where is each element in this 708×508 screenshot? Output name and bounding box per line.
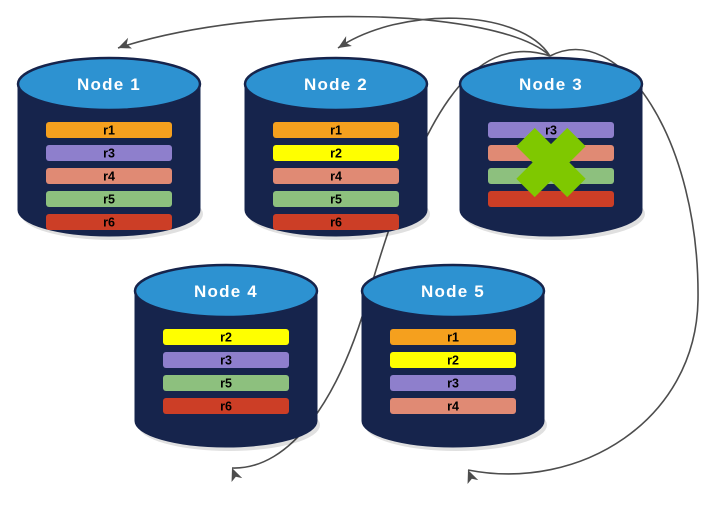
edge-node3-to-node1-line [118,17,550,56]
node-5-title: Node 5 [421,282,485,301]
node-4-record-4-label: r6 [220,400,232,414]
node-2[interactable]: Node 2r1r2r4r5r6 [245,58,430,240]
node-2-record-3[interactable]: r4 [273,168,399,184]
node-5[interactable]: Node 5r1r2r3r4 [362,265,547,451]
node-3-record-1[interactable]: r3 [488,122,614,138]
node-3[interactable]: Node 3r3 [460,58,645,240]
node-2-record-2[interactable]: r2 [273,145,399,161]
node-5-record-3[interactable]: r3 [390,375,516,391]
node-3-record-1-label: r3 [545,124,557,138]
node-2-record-5-label: r6 [330,216,342,230]
node-4-record-3-label: r5 [220,377,232,391]
edge-node3-to-node1-arrowhead [116,38,132,53]
node-5-record-2-label: r2 [447,354,459,368]
node-4[interactable]: Node 4r2r3r5r6 [135,265,320,451]
node-4-record-1[interactable]: r2 [163,329,289,345]
node-2-record-1[interactable]: r1 [273,122,399,138]
node-2-record-3-label: r4 [330,170,342,184]
node-2-record-2-label: r2 [330,147,342,161]
diagram-canvas: Node 1r1r3r4r5r6Node 2r1r2r4r5r6Node 3r3… [0,0,708,508]
node-2-record-4[interactable]: r5 [273,191,399,207]
node-4-record-1-label: r2 [220,331,232,345]
node-5-record-1[interactable]: r1 [390,329,516,345]
node-3-record-4-bar [488,191,614,207]
node-2-record-4-label: r5 [330,193,342,207]
node-4-title: Node 4 [194,282,258,301]
node-4-record-2-label: r3 [220,354,232,368]
node-1[interactable]: Node 1r1r3r4r5r6 [18,58,203,240]
node-4-record-4[interactable]: r6 [163,398,289,414]
node-1-record-3[interactable]: r4 [46,168,172,184]
node-1-record-4-label: r5 [103,193,115,207]
node-2-record-1-label: r1 [330,124,342,138]
node-4-record-2[interactable]: r3 [163,352,289,368]
node-1-record-2[interactable]: r3 [46,145,172,161]
node-4-record-3[interactable]: r5 [163,375,289,391]
edge-node3-to-node2 [335,18,550,56]
node-1-record-4[interactable]: r5 [46,191,172,207]
node-5-record-3-label: r3 [447,377,459,391]
node-replica-diagram: Node 1r1r3r4r5r6Node 2r1r2r4r5r6Node 3r3… [0,0,708,508]
node-1-record-2-label: r3 [103,147,115,161]
node-1-record-5[interactable]: r6 [46,214,172,230]
node-5-record-1-label: r1 [447,331,459,345]
node-1-title: Node 1 [77,75,141,94]
node-2-record-5[interactable]: r6 [273,214,399,230]
node-2-title: Node 2 [304,75,368,94]
node-3-record-4[interactable] [488,191,614,207]
edge-node3-to-node2-arrowhead [335,36,352,52]
node-1-record-1[interactable]: r1 [46,122,172,138]
node-1-record-3-label: r4 [103,170,115,184]
node-5-record-4-label: r4 [447,400,459,414]
node-1-record-1-label: r1 [103,124,115,138]
node-5-record-4[interactable]: r4 [390,398,516,414]
edge-node3-to-node1 [116,17,550,56]
node-3-title: Node 3 [519,75,583,94]
edge-node3-to-node2-line [338,18,550,56]
node-5-record-2[interactable]: r2 [390,352,516,368]
node-1-record-5-label: r6 [103,216,115,230]
nodes-layer: Node 1r1r3r4r5r6Node 2r1r2r4r5r6Node 3r3… [18,58,645,451]
